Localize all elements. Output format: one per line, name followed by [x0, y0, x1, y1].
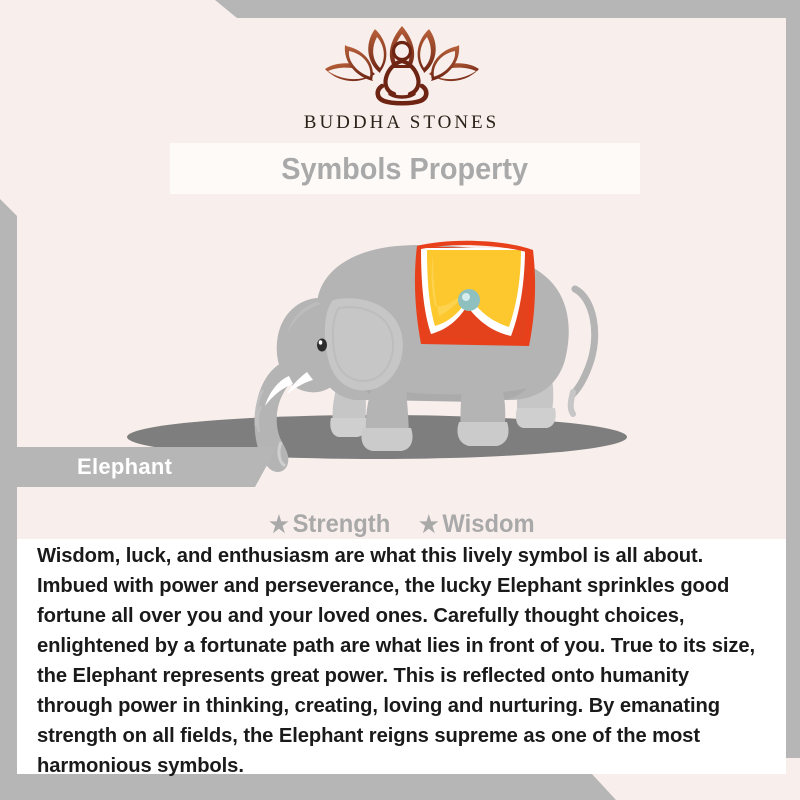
page-title: Symbols Property — [282, 151, 529, 187]
top-gray-band — [0, 0, 800, 18]
subject-ribbon: Elephant — [17, 447, 277, 487]
title-band: Symbols Property — [170, 143, 640, 194]
star-icon: ★ — [269, 511, 289, 537]
subject-label: Elephant — [77, 454, 172, 480]
brand-name: BUDDHA STONES — [304, 112, 499, 134]
brand-logo: BUDDHA STONES — [17, 24, 786, 134]
brand-header: BUDDHA STONES — [17, 18, 786, 143]
trait-wisdom-label: Wisdom — [442, 510, 534, 538]
left-gray-strip — [0, 196, 17, 800]
right-gray-strip — [786, 18, 800, 758]
lotus-meditation-icon — [314, 24, 490, 108]
description-card: Wisdom, luck, and enthusiasm are what th… — [17, 539, 786, 774]
trait-strength-label: Strength — [292, 510, 390, 538]
symbols-property-card: BUDDHA STONES Symbols Property — [0, 0, 800, 800]
description-text: Wisdom, luck, and enthusiasm are what th… — [37, 541, 766, 781]
traits-row: ★Strength ★Wisdom — [17, 510, 786, 539]
trait-wisdom: ★Wisdom — [419, 510, 535, 539]
trait-strength: ★Strength — [269, 510, 390, 539]
star-icon: ★ — [419, 511, 439, 537]
